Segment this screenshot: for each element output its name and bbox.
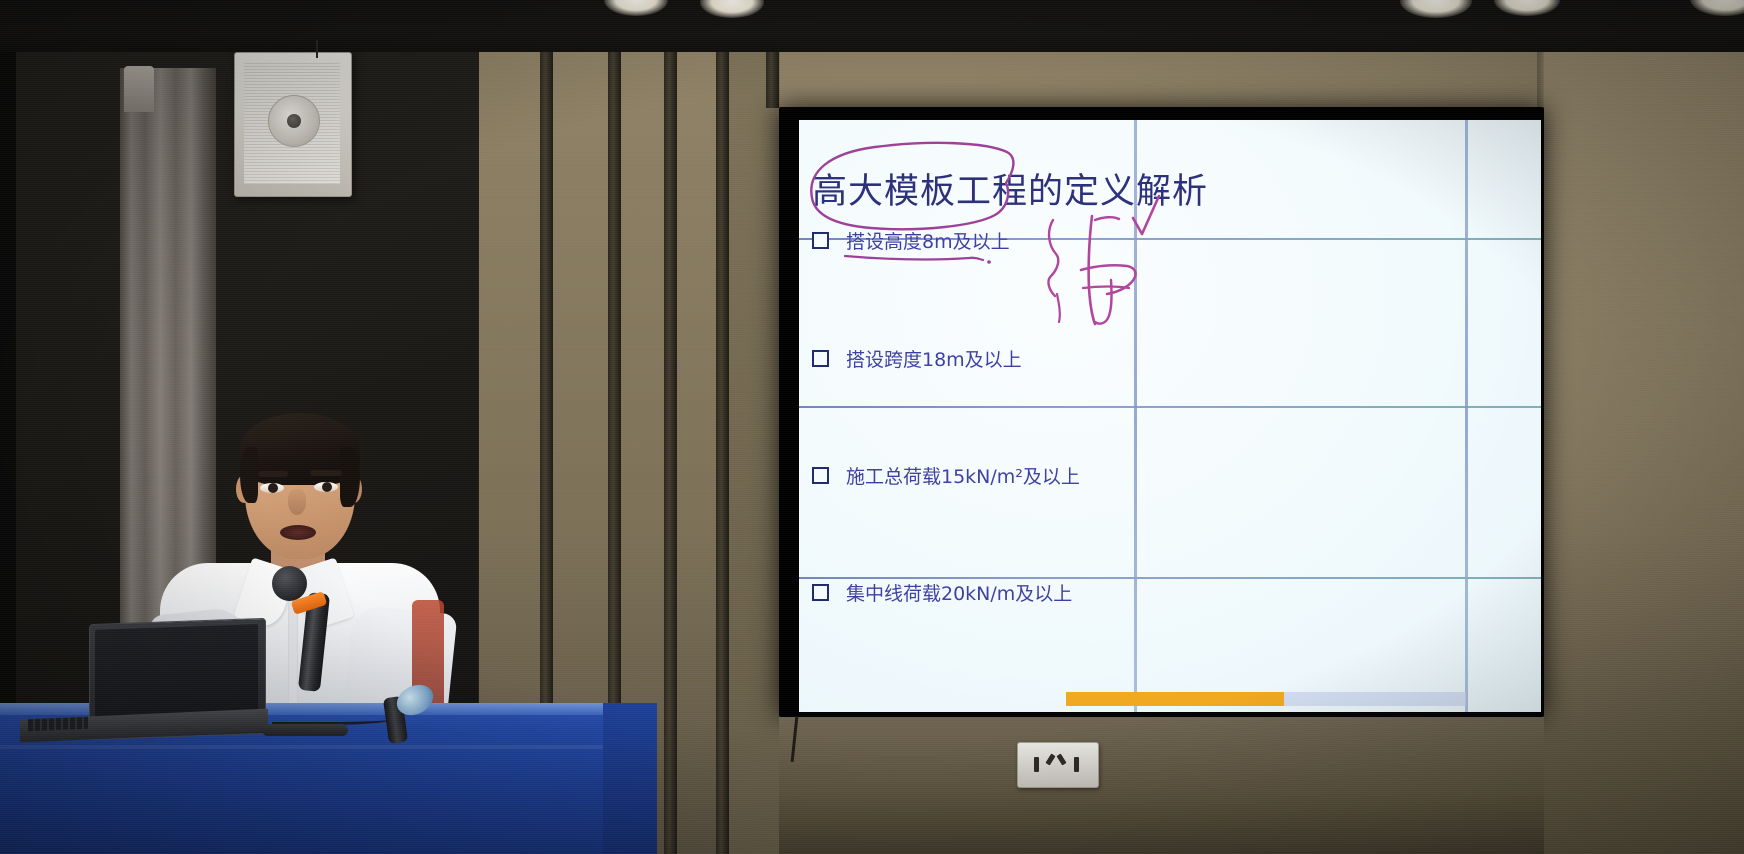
speaker-driver	[268, 95, 320, 147]
slide-bullet-3-text: 施工总荷载15kN/m²及以上	[846, 462, 1080, 489]
square-bullet-icon	[812, 467, 829, 484]
photo-scene: 高大模板工程的定义解析 搭设高度8m及以上 搭设跨度18m及以上 施工总荷载15…	[0, 0, 1744, 854]
wall-batten-6	[766, 52, 779, 108]
outlet-slot-mid2	[1056, 754, 1066, 766]
wall-panel-b	[720, 52, 780, 854]
handheld-microphone-head	[272, 566, 307, 601]
slide-bullet-2: 搭设跨度18m及以上	[812, 345, 1022, 372]
outlet-slot-right	[1074, 757, 1079, 772]
presenter-eye-left	[260, 483, 284, 493]
slide-bullet-1-text: 搭设高度8m及以上	[846, 227, 1010, 254]
presenter-hair-left	[240, 447, 258, 503]
square-bullet-icon	[812, 350, 829, 367]
square-bullet-icon	[812, 232, 829, 249]
slide-accent-bar-blue	[1284, 692, 1466, 706]
outlet-slot-mid	[1045, 754, 1055, 766]
slide-bullet-2-text: 搭设跨度18m及以上	[846, 345, 1022, 372]
outlet-slot-left	[1034, 757, 1039, 772]
panel-seam-col-2	[1465, 120, 1468, 712]
slide-title: 高大模板工程的定义解析	[812, 163, 1208, 214]
microphone-stand-base	[262, 724, 348, 736]
presenter-nose	[288, 489, 306, 515]
presenter-brow-right	[310, 470, 342, 476]
table-cloth-fold	[0, 745, 655, 749]
slide-bullet-3: 施工总荷载15kN/m²及以上	[812, 462, 1080, 489]
panel-seam-row-2	[799, 406, 1541, 408]
presenter-mouth	[280, 525, 316, 540]
wall-batten-4	[664, 52, 677, 854]
wall-below-display	[779, 717, 1544, 854]
slide-bullet-1: 搭设高度8m及以上	[812, 227, 1010, 254]
slide-accent-bar-orange	[1066, 692, 1284, 706]
wall-panel-c	[1544, 52, 1744, 854]
slide-bullet-4: 集中线荷载20kN/m及以上	[812, 579, 1072, 606]
table-cloth-right	[603, 703, 657, 854]
slide-bullet-4-text: 集中线荷载20kN/m及以上	[846, 579, 1072, 606]
presenter-hair-right	[340, 447, 360, 507]
curtain-rail-cap	[124, 66, 154, 112]
square-bullet-icon	[812, 584, 829, 601]
presenter-brow-left	[258, 471, 288, 477]
wall-batten-5	[716, 52, 729, 854]
speaker-cable	[316, 40, 318, 58]
wall-power-outlet[interactable]	[1017, 742, 1099, 788]
presenter-eye-right	[314, 482, 338, 492]
